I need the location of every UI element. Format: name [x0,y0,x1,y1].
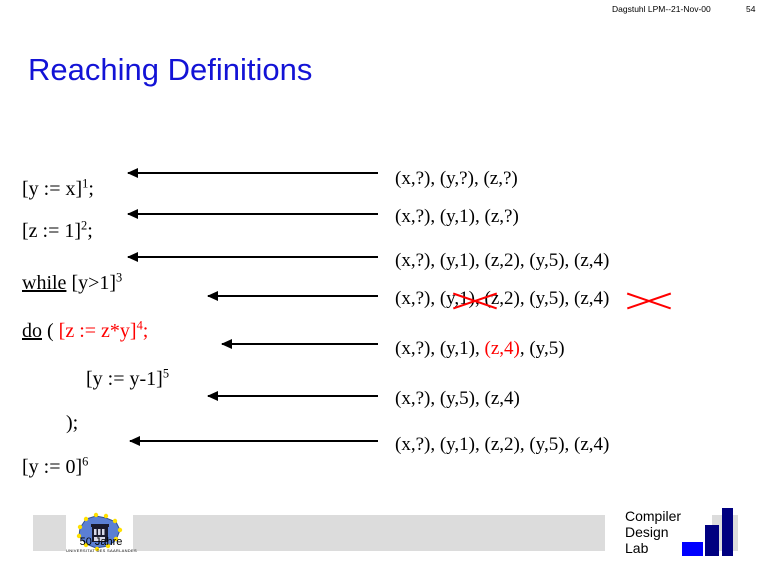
left-arrow-7 [130,440,378,442]
seal-label: 50 Jahre [66,536,136,548]
left-arrow-1 [128,172,378,174]
logo-bar-medium [705,525,719,556]
compiler-design-lab-logo: Compiler Design Lab [625,508,681,556]
logo-bar-short [682,542,703,556]
code-line-6: ); [66,412,78,435]
logo-line-design: Design [625,524,681,540]
code-highlighted-statement: [z := z*y] [59,320,137,342]
annotation-text: (x,?), (y,1), (z,2), (y,5), (z,4) [395,434,609,455]
code-label-superscript: 5 [163,366,169,380]
annotation-set-4: (x,?), (y,1), (z,2), (y,5), (z,4) [395,288,609,310]
code-text: [y>1] [66,272,116,294]
header-page-number: 54 [746,4,755,14]
code-label-superscript: 3 [116,270,122,284]
left-arrow-5 [222,343,378,345]
code-text: ( [42,320,59,342]
logo-bar-tall [722,508,733,556]
code-block: [y := x]1;[z := 1]2;while [y>1]3do ( [z … [0,0,400,520]
annotation-text: (x,?), (y,5), (z,4) [395,388,520,409]
annotation-text: , (y,5) [520,338,565,359]
code-highlighted-statement: ; [143,320,149,342]
code-line-3: while [y>1]3 [22,272,122,295]
code-text: ; [88,178,94,200]
code-text: ; [87,220,93,242]
logo-line-compiler: Compiler [625,508,681,524]
left-arrow-3 [128,256,378,258]
code-text: [y := x] [22,178,82,200]
code-line-4: do ( [z := z*y]4; [22,320,148,343]
annotation-set-6: (x,?), (y,5), (z,4) [395,388,520,410]
code-label-superscript: 6 [82,454,88,468]
left-arrow-6 [208,395,378,397]
annotation-text: (x,?), (y,?), (z,?) [395,168,518,189]
crossout-mark-2 [626,288,672,314]
annotation-text: (x,?), (y,1), (z,2), (y,5), (z,4) [395,288,609,309]
header-conference-label: Dagstuhl LPM--21-Nov-00 [612,4,711,14]
annotation-set-5: (x,?), (y,1), (z,4), (y,5) [395,338,565,360]
left-arrow-4 [208,295,378,297]
code-text: [y := y-1] [86,368,163,390]
footer-band-1 [33,515,66,551]
code-line-7: [y := 0]6 [22,456,88,479]
code-text: [z := 1] [22,220,81,242]
annotation-set-7: (x,?), (y,1), (z,2), (y,5), (z,4) [395,434,609,456]
code-line-2: [z := 1]2; [22,220,93,243]
annotation-highlighted-pair: (z,4) [485,338,520,359]
annotation-set-3: (x,?), (y,1), (z,2), (y,5), (z,4) [395,250,609,272]
slide-canvas: Dagstuhl LPM--21-Nov-00 54 Reaching Defi… [0,0,768,576]
code-line-1: [y := x]1; [22,178,94,201]
code-text: ); [66,412,78,434]
footer-band-2 [133,515,605,551]
annotation-text: (x,?), (y,1), (z,2), (y,5), (z,4) [395,250,609,271]
annotation-set-2: (x,?), (y,1), (z,?) [395,206,519,228]
annotation-text: (x,?), (y,1), [395,338,485,359]
logo-line-lab: Lab [625,540,681,556]
code-text: [y := 0] [22,456,82,478]
code-keyword: while [22,272,66,294]
code-keyword: do [22,320,42,342]
annotation-set-1: (x,?), (y,?), (z,?) [395,168,518,190]
annotation-text: (x,?), (y,1), (z,?) [395,206,519,227]
code-line-5: [y := y-1]5 [86,368,169,391]
left-arrow-2 [128,213,378,215]
seal-sublabel: UNIVERSITAT DES SAARLANDES [66,548,136,553]
